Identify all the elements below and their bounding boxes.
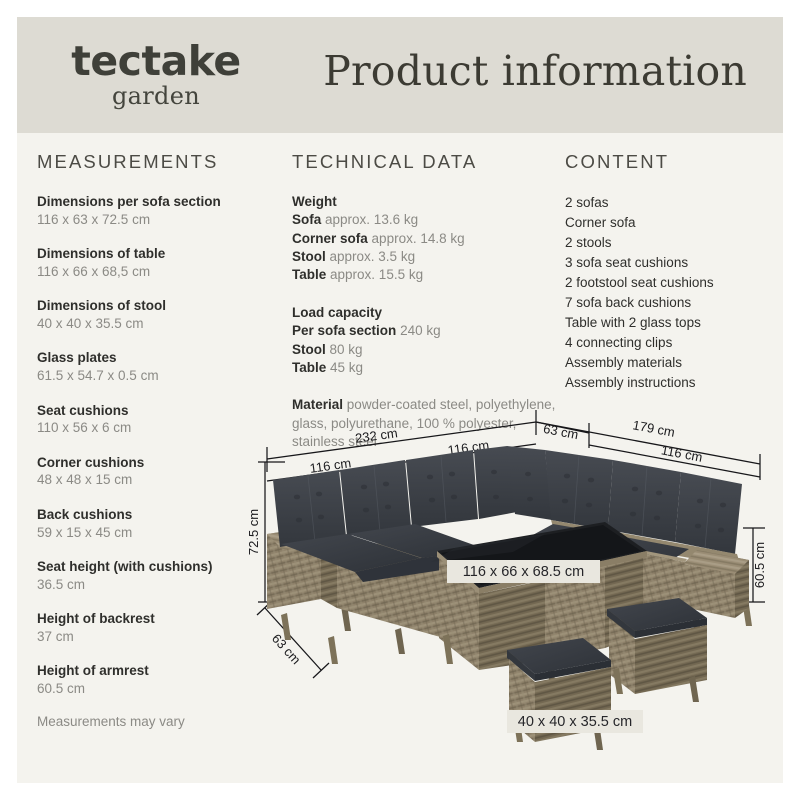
callout-stool-text: 40 x 40 x 35.5 cm (518, 714, 632, 730)
callout-table: 116 x 66 x 68.5 cm (447, 560, 600, 583)
callout-stool: 40 x 40 x 35.5 cm (507, 710, 643, 733)
weight-row: Table approx. 15.5 kg (292, 266, 557, 284)
measurement-label: Dimensions of stool (37, 297, 287, 315)
measurement-item: Dimensions of table 116 x 66 x 68,5 cm (37, 245, 287, 281)
measurement-item: Dimensions of stool 40 x 40 x 35.5 cm (37, 297, 287, 333)
weight-row: Sofa approx. 13.6 kg (292, 211, 557, 229)
list-item: 3 sofa seat cushions (565, 253, 775, 273)
dimension-label-height-arm: 60.5 cm (752, 542, 767, 588)
dimension-label-corner-depth: 63 cm (542, 421, 580, 442)
brand-logo: tectake garden (61, 41, 251, 109)
page-header: tectake garden Product information (17, 17, 783, 133)
weight-value: approx. 13.6 kg (325, 212, 418, 227)
furniture-diagram: 232 cm 116 cm 116 cm 63 cm 179 cm 116 cm… (245, 402, 783, 783)
list-item: 2 sofas (565, 193, 775, 213)
corner-sofa-cushions (474, 446, 552, 520)
stool-right (607, 598, 707, 702)
page-title: Product information (323, 47, 747, 95)
measurement-value: 116 x 66 x 68,5 cm (37, 263, 287, 281)
load-value: 240 kg (400, 323, 441, 338)
weight-row: Stool approx. 3.5 kg (292, 248, 557, 266)
weight-title: Weight (292, 193, 557, 211)
list-item: 2 stools (565, 233, 775, 253)
load-capacity-title: Load capacity (292, 304, 557, 322)
load-label: Per sofa section (292, 323, 396, 338)
weight-value: approx. 3.5 kg (330, 249, 416, 264)
weight-label: Corner sofa (292, 231, 368, 246)
technical-data-heading: TECHNICAL DATA (292, 151, 557, 173)
list-item: Assembly materials (565, 353, 775, 373)
load-label: Table (292, 360, 326, 375)
measurement-value: 40 x 40 x 35.5 cm (37, 315, 287, 333)
weight-value: approx. 14.8 kg (372, 231, 465, 246)
content-column: CONTENT 2 sofas Corner sofa 2 stools 3 s… (565, 151, 775, 393)
list-item: Table with 2 glass tops (565, 313, 775, 333)
dimension-label-total-right: 179 cm (631, 417, 676, 440)
measurement-item: Glass plates 61.5 x 54.7 x 0.5 cm (37, 349, 287, 385)
stool-left (507, 638, 611, 750)
measurement-label: Glass plates (37, 349, 287, 367)
content-heading: CONTENT (565, 151, 775, 173)
dimension-label-height-back: 72.5 cm (246, 509, 261, 555)
weight-group: Weight Sofa approx. 13.6 kg Corner sofa … (292, 193, 557, 285)
measurement-item: Dimensions per sofa section 116 x 63 x 7… (37, 193, 287, 229)
corner-sofa-set (267, 446, 752, 750)
load-row: Per sofa section 240 kg (292, 322, 557, 340)
callout-table-text: 116 x 66 x 68.5 cm (463, 564, 584, 580)
weight-label: Stool (292, 249, 326, 264)
list-item: 7 sofa back cushions (565, 293, 775, 313)
dimension-label-right-section: 116 cm (660, 442, 704, 464)
list-item: 2 footstool seat cushions (565, 273, 775, 293)
list-item: Corner sofa (565, 213, 775, 233)
weight-row: Corner sofa approx. 14.8 kg (292, 230, 557, 248)
measurements-heading: MEASUREMENTS (37, 151, 287, 173)
weight-label: Sofa (292, 212, 321, 227)
dimension-label-total-left: 232 cm (354, 425, 398, 446)
brand-subtitle: garden (61, 84, 251, 109)
product-information-sheet: tectake garden Product information MEASU… (17, 17, 783, 783)
weight-label: Table (292, 267, 326, 282)
measurement-value: 61.5 x 54.7 x 0.5 cm (37, 367, 287, 385)
measurement-value: 116 x 63 x 72.5 cm (37, 211, 287, 229)
load-row: Stool 80 kg (292, 341, 557, 359)
measurement-label: Dimensions per sofa section (37, 193, 287, 211)
load-capacity-group: Load capacity Per sofa section 240 kg St… (292, 304, 557, 377)
brand-name: tectake (61, 41, 251, 82)
load-row: Table 45 kg (292, 359, 557, 377)
load-value: 45 kg (330, 360, 363, 375)
list-item: 4 connecting clips (565, 333, 775, 353)
load-value: 80 kg (330, 342, 363, 357)
weight-value: approx. 15.5 kg (330, 267, 423, 282)
measurement-label: Dimensions of table (37, 245, 287, 263)
load-label: Stool (292, 342, 326, 357)
list-item: Assembly instructions (565, 373, 775, 393)
